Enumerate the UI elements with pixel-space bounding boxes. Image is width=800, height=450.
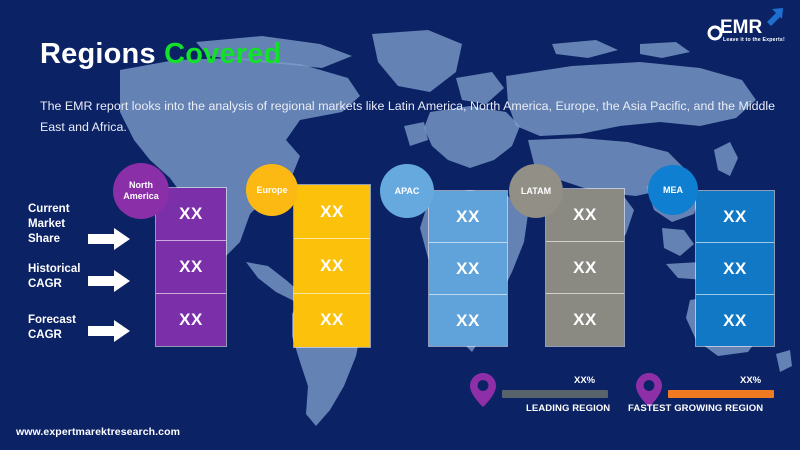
page-title-accent: Covered — [164, 38, 281, 70]
region-column-latam[interactable]: XX XX XX — [545, 188, 625, 347]
svg-text:EMR: EMR — [720, 17, 763, 38]
map-pin-icon — [470, 373, 496, 407]
region-cell: XX — [429, 242, 507, 294]
region-cell: XX — [696, 294, 774, 346]
region-column-mea[interactable]: XX XX XX — [695, 190, 775, 347]
legend-caption: FASTEST GROWING REGION — [628, 403, 763, 414]
legend-leading-region: XX% LEADING REGION — [470, 373, 610, 429]
region-bubble-label: LATAM — [521, 186, 551, 197]
region-bubble-label: APAC — [395, 186, 420, 197]
footer-website-url[interactable]: www.expertmarektresearch.com — [16, 426, 180, 438]
page-title: Regions Covered — [40, 38, 282, 71]
region-bubble-label: MEA — [663, 185, 683, 196]
region-cell: XX — [156, 240, 226, 293]
page-title-primary: Regions — [40, 38, 156, 70]
region-cell: XX — [696, 191, 774, 242]
region-column-europe[interactable]: XX XX XX — [293, 184, 371, 348]
slide-canvas: EMR Leave it to the Experts! Regions Cov… — [0, 0, 800, 450]
region-cell: XX — [429, 294, 507, 346]
region-bubble-europe[interactable]: Europe — [246, 164, 298, 216]
region-column-north-america[interactable]: XX XX XX — [155, 187, 227, 347]
legend-bar — [502, 390, 608, 398]
legend-caption: LEADING REGION — [526, 403, 610, 414]
region-bubble-mea[interactable]: MEA — [648, 165, 698, 215]
row-label-historical-cagr: Historical CAGR — [28, 262, 94, 292]
map-pin-icon — [636, 373, 662, 407]
arrow-right-icon — [88, 270, 130, 292]
arrow-right-icon — [88, 228, 130, 250]
legend-fastest-growing-region: XX% FASTEST GROWING REGION — [636, 373, 782, 429]
legend-percent: XX% — [740, 375, 761, 386]
legend-percent: XX% — [574, 375, 595, 386]
emr-logo: EMR Leave it to the Experts! — [704, 6, 790, 46]
region-cell: XX — [429, 191, 507, 242]
page-subtitle: The EMR report looks into the analysis o… — [40, 96, 775, 138]
region-cell: XX — [294, 238, 370, 292]
arrow-right-icon — [88, 320, 130, 342]
region-cell: XX — [546, 241, 624, 294]
region-bubble-apac[interactable]: APAC — [380, 164, 434, 218]
legend-bar — [668, 390, 774, 398]
row-label-current-market-share: Current Market Share — [28, 202, 94, 247]
region-bubble-latam[interactable]: LATAM — [509, 164, 563, 218]
region-cell: XX — [156, 293, 226, 346]
svg-text:Leave it to the Experts!: Leave it to the Experts! — [723, 37, 785, 43]
region-cell: XX — [696, 242, 774, 294]
region-cell: XX — [294, 293, 370, 347]
region-column-apac[interactable]: XX XX XX — [428, 190, 508, 347]
row-label-forecast-cagr: Forecast CAGR — [28, 313, 94, 343]
region-cell: XX — [294, 185, 370, 238]
region-bubble-label: North America — [113, 180, 169, 202]
region-bubble-north-america[interactable]: North America — [113, 163, 169, 219]
region-bubble-label: Europe — [256, 185, 287, 196]
region-cell: XX — [546, 293, 624, 346]
growth-arrow-icon — [767, 8, 783, 26]
